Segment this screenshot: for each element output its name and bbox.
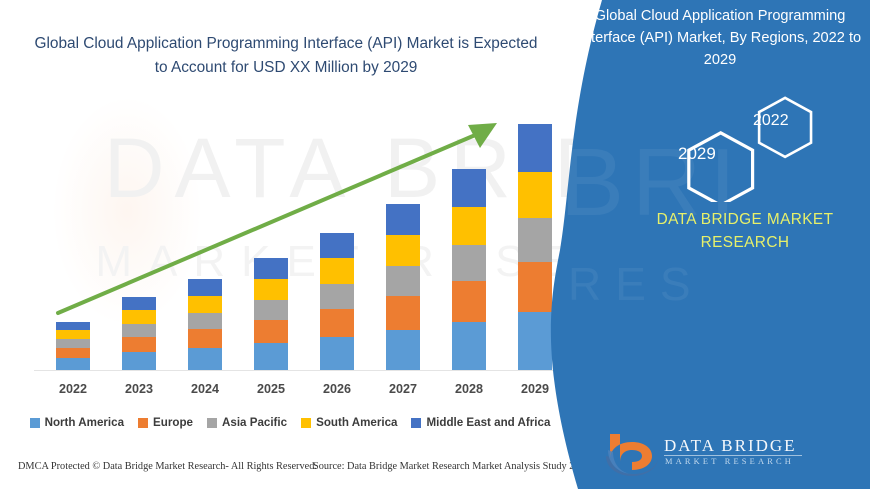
logo-text-sub: MARKET RESEARCH bbox=[665, 457, 794, 466]
bar-segment-europe-2027[interactable] bbox=[386, 296, 420, 330]
legend-label: North America bbox=[45, 416, 124, 429]
bar-segment-south-america-2026[interactable] bbox=[320, 258, 354, 284]
bar-segment-europe-2028[interactable] bbox=[452, 281, 486, 322]
bar-segment-middle-east-and-africa-2028[interactable] bbox=[452, 169, 486, 207]
legend-label: Middle East and Africa bbox=[426, 416, 550, 429]
legend-swatch-icon bbox=[138, 418, 148, 428]
bar-segment-middle-east-and-africa-2023[interactable] bbox=[122, 297, 156, 310]
hexagon-label-2022: 2022 bbox=[753, 112, 789, 130]
bar-segment-south-america-2024[interactable] bbox=[188, 296, 222, 313]
bar-segment-south-america-2022[interactable] bbox=[56, 330, 90, 339]
bar-segment-north-america-2024[interactable] bbox=[188, 348, 222, 370]
legend-swatch-icon bbox=[301, 418, 311, 428]
bar-2026[interactable] bbox=[320, 233, 354, 370]
panel-brand-text: DATA BRIDGE MARKET RESEARCH bbox=[620, 208, 870, 254]
x-axis-labels: 20222023202420252026202720282029 bbox=[0, 382, 600, 404]
bar-2023[interactable] bbox=[122, 297, 156, 370]
bar-segment-asia-pacific-2022[interactable] bbox=[56, 339, 90, 348]
legend-swatch-icon bbox=[30, 418, 40, 428]
chart-legend: North AmericaEuropeAsia PacificSouth Ame… bbox=[0, 416, 580, 429]
legend-swatch-icon bbox=[207, 418, 217, 428]
bar-segment-asia-pacific-2025[interactable] bbox=[254, 300, 288, 320]
hexagon-label-2029: 2029 bbox=[678, 144, 716, 164]
bar-segment-asia-pacific-2024[interactable] bbox=[188, 313, 222, 329]
footer-copyright: DMCA Protected © Data Bridge Market Rese… bbox=[18, 461, 317, 472]
bar-segment-north-america-2022[interactable] bbox=[56, 358, 90, 370]
bar-segment-middle-east-and-africa-2027[interactable] bbox=[386, 204, 420, 235]
dbmr-logo: DATA BRIDGE MARKET RESEARCH bbox=[602, 430, 832, 478]
panel-brand-line-1: DATA BRIDGE MARKET bbox=[620, 208, 870, 231]
bar-2028[interactable] bbox=[452, 169, 486, 370]
bar-segment-south-america-2025[interactable] bbox=[254, 279, 288, 300]
legend-item-europe[interactable]: Europe bbox=[138, 416, 193, 429]
bar-segment-south-america-2027[interactable] bbox=[386, 235, 420, 266]
legend-item-asia-pacific[interactable]: Asia Pacific bbox=[207, 416, 287, 429]
x-axis-label-2024: 2024 bbox=[175, 382, 235, 396]
hexagon-group: 2029 2022 bbox=[660, 92, 840, 202]
x-axis-label-2025: 2025 bbox=[241, 382, 301, 396]
bar-segment-north-america-2023[interactable] bbox=[122, 352, 156, 370]
bar-2022[interactable] bbox=[56, 322, 90, 370]
bar-segment-south-america-2028[interactable] bbox=[452, 207, 486, 245]
bar-2025[interactable] bbox=[254, 258, 288, 370]
panel-brand-line-2: RESEARCH bbox=[620, 231, 870, 254]
bar-2024[interactable] bbox=[188, 279, 222, 370]
legend-label: Europe bbox=[153, 416, 193, 429]
x-axis-label-2027: 2027 bbox=[373, 382, 433, 396]
chart-plot-area: 20222023202420252026202720282029 bbox=[0, 0, 600, 400]
bar-segment-asia-pacific-2026[interactable] bbox=[320, 284, 354, 309]
bar-segment-asia-pacific-2023[interactable] bbox=[122, 324, 156, 337]
bar-segment-north-america-2027[interactable] bbox=[386, 330, 420, 370]
legend-swatch-icon bbox=[411, 418, 421, 428]
bar-segment-asia-pacific-2028[interactable] bbox=[452, 245, 486, 281]
bar-segment-asia-pacific-2027[interactable] bbox=[386, 266, 420, 296]
x-axis-label-2026: 2026 bbox=[307, 382, 367, 396]
legend-label: South America bbox=[316, 416, 397, 429]
bar-segment-europe-2025[interactable] bbox=[254, 320, 288, 343]
panel-title: Global Cloud Application Programming Int… bbox=[575, 6, 865, 72]
bar-segment-middle-east-and-africa-2025[interactable] bbox=[254, 258, 288, 279]
bar-segment-europe-2024[interactable] bbox=[188, 329, 222, 348]
bar-segment-middle-east-and-africa-2022[interactable] bbox=[56, 322, 90, 330]
bar-segment-middle-east-and-africa-2024[interactable] bbox=[188, 279, 222, 296]
bar-segment-north-america-2028[interactable] bbox=[452, 322, 486, 370]
legend-item-south-america[interactable]: South America bbox=[301, 416, 397, 429]
x-axis-label-2023: 2023 bbox=[109, 382, 169, 396]
x-axis-label-2028: 2028 bbox=[439, 382, 499, 396]
logo-text-main: DATA BRIDGE bbox=[664, 436, 797, 456]
legend-item-middle-east-and-africa[interactable]: Middle East and Africa bbox=[411, 416, 550, 429]
x-axis-label-2022: 2022 bbox=[43, 382, 103, 396]
legend-label: Asia Pacific bbox=[222, 416, 287, 429]
dbmr-logo-mark-icon bbox=[602, 430, 662, 478]
bar-segment-south-america-2023[interactable] bbox=[122, 310, 156, 324]
bar-2027[interactable] bbox=[386, 204, 420, 370]
bar-segment-europe-2026[interactable] bbox=[320, 309, 354, 337]
bar-series-container bbox=[0, 0, 600, 370]
bar-segment-europe-2023[interactable] bbox=[122, 337, 156, 352]
x-axis-line bbox=[34, 370, 562, 371]
bar-segment-north-america-2026[interactable] bbox=[320, 337, 354, 370]
legend-item-north-america[interactable]: North America bbox=[30, 416, 124, 429]
bar-segment-middle-east-and-africa-2026[interactable] bbox=[320, 233, 354, 258]
infographic-page: DATA BRIDGE MARKET RESEARCH Global Cloud… bbox=[0, 0, 870, 489]
bar-segment-europe-2022[interactable] bbox=[56, 348, 90, 358]
bar-segment-north-america-2025[interactable] bbox=[254, 343, 288, 370]
svg-text:RES: RES bbox=[568, 258, 705, 310]
